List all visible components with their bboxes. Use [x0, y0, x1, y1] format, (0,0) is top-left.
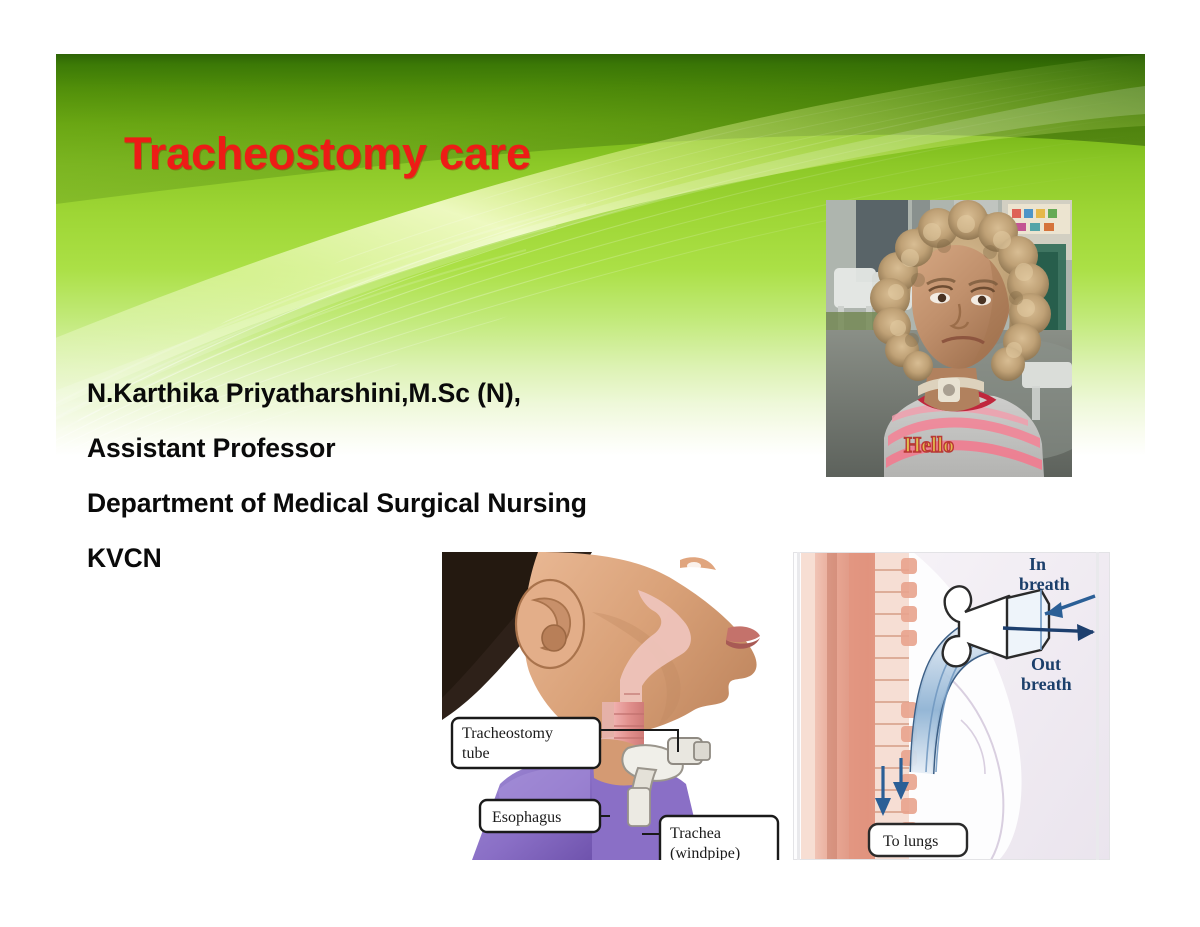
page-title: Tracheostomy care [124, 128, 531, 180]
diagram-label-out-breath-line1: Out [1031, 654, 1061, 674]
author-name: N.Karthika Priyatharshini,M.Sc (N), [87, 366, 817, 421]
svg-text:Hello: Hello [904, 432, 954, 457]
diagram-label-tracheostomy-tube-line2: tube [462, 745, 490, 762]
diagram-label-in-breath-line2: breath [1019, 574, 1070, 594]
author-department: Department of Medical Surgical Nursing [87, 476, 817, 531]
diagram-label-to-lungs: To lungs [883, 833, 938, 850]
child-with-tracheostomy-photo: Hello [826, 200, 1072, 477]
diagram-label-trachea-line1: Trachea [670, 825, 721, 842]
diagram-label-out-breath-line2: breath [1021, 674, 1072, 694]
author-designation: Assistant Professor [87, 421, 817, 476]
presentation-slide: Tracheostomy care N.Karthika Priyatharsh… [0, 0, 1200, 927]
diagram-label-trachea-line2: (windpipe) [670, 845, 740, 860]
airflow-through-tracheostomy-diagram: In breath Out breath To lungs [793, 552, 1110, 860]
diagram-label-esophagus: Esophagus [492, 809, 561, 826]
diagram-label-tracheostomy-tube-line1: Tracheostomy [462, 725, 553, 742]
tracheostomy-anatomy-diagram: Tracheostomy tube Esophagus Trachea (win… [442, 552, 786, 860]
tracheostomy-diagrams: Tracheostomy tube Esophagus Trachea (win… [442, 552, 1110, 860]
diagram-label-in-breath-line1: In [1029, 554, 1046, 574]
